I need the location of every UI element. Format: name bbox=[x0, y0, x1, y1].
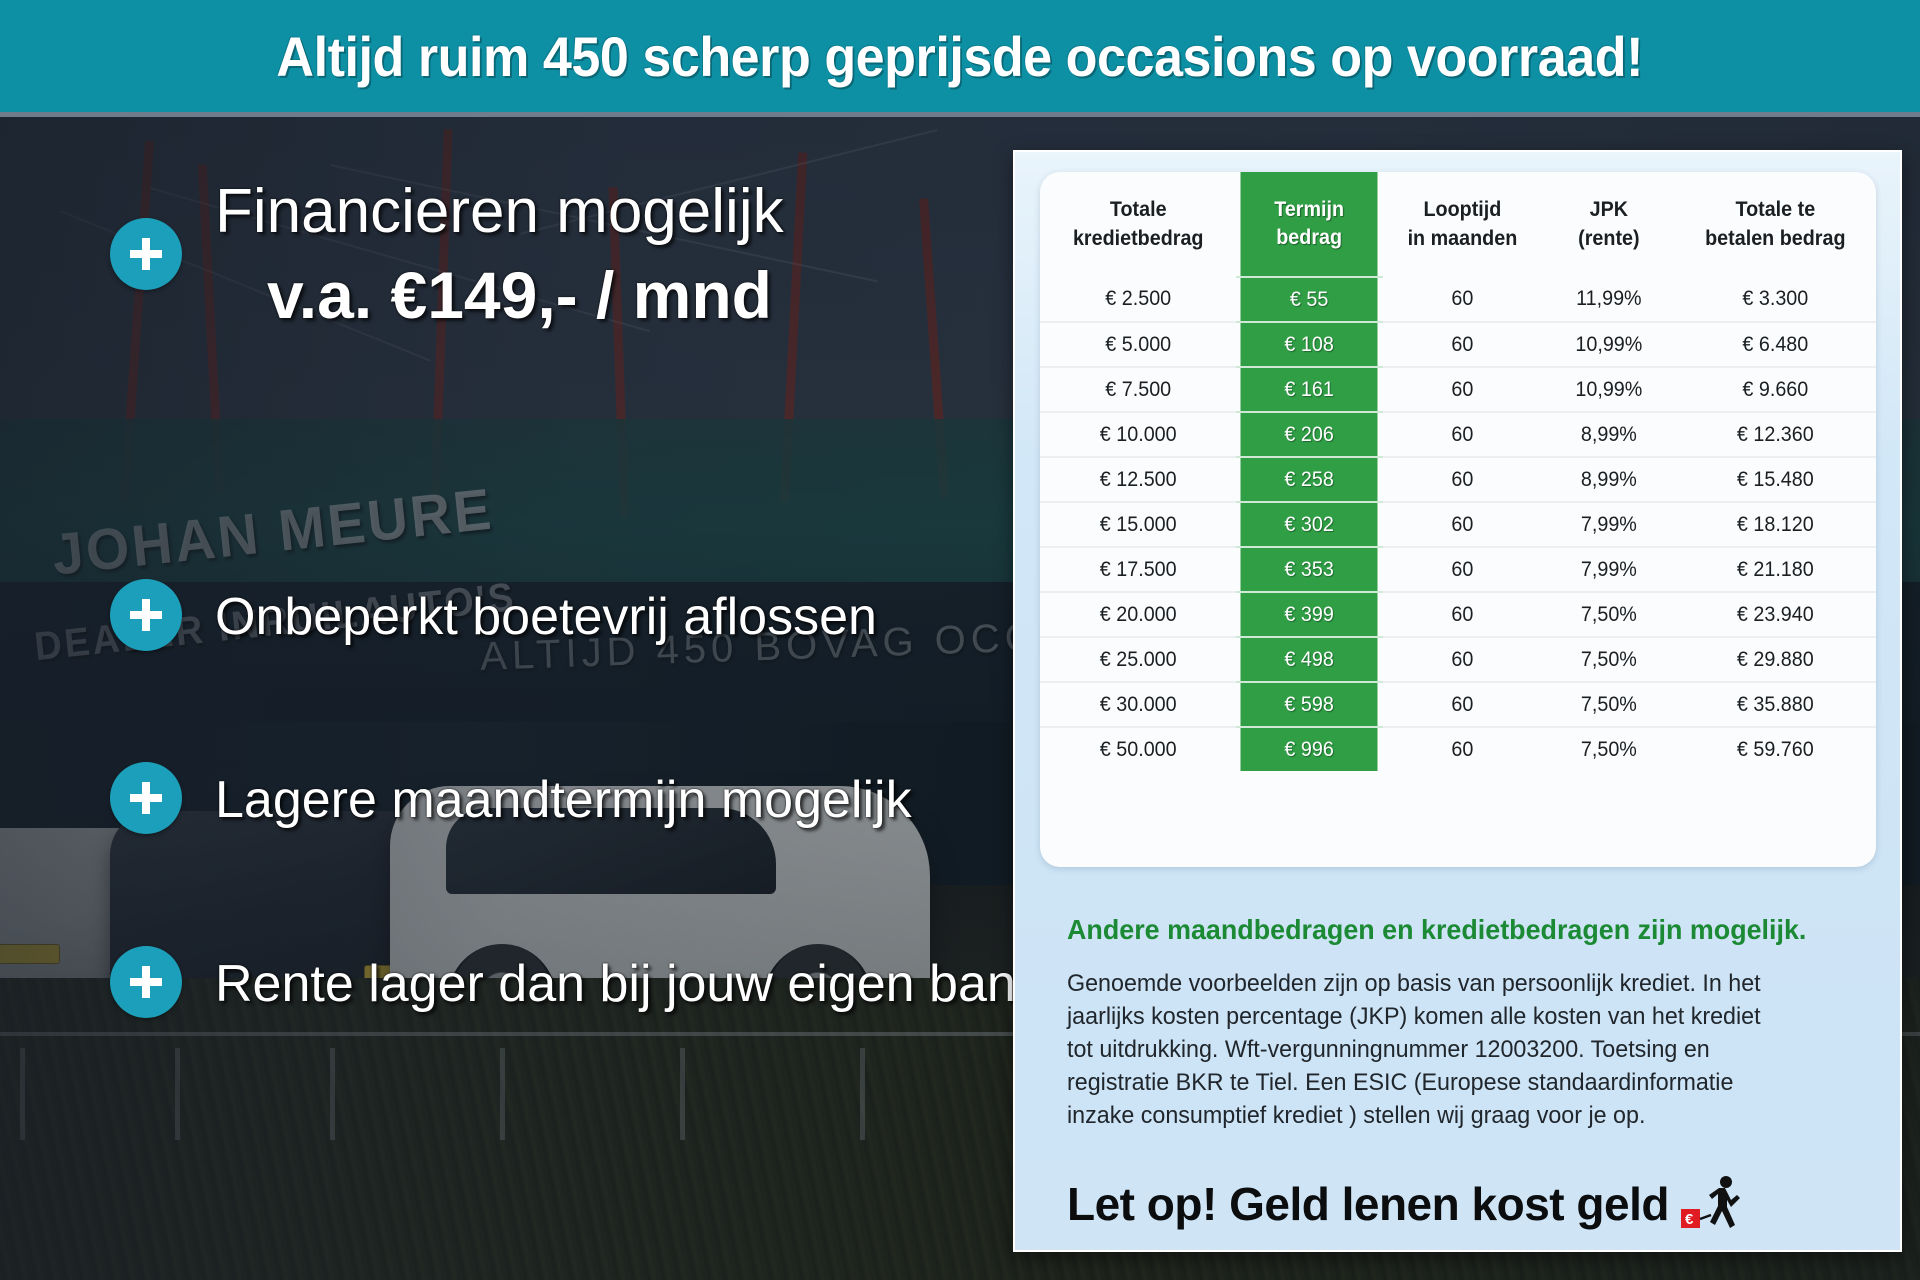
cell-total-credit: € 30.000 bbox=[1046, 682, 1231, 727]
cell-total-payable: € 18.120 bbox=[1681, 502, 1870, 547]
promo-headline: Financieren mogelijk v.a. €149,- / mnd bbox=[215, 179, 784, 331]
cell-duration: 60 bbox=[1388, 277, 1537, 322]
table-row: € 20.000€ 399607,50%€ 23.940 bbox=[1040, 592, 1876, 637]
cell-interest: 7,99% bbox=[1546, 547, 1672, 592]
cell-total-credit: € 15.000 bbox=[1046, 502, 1231, 547]
cell-duration: 60 bbox=[1388, 457, 1537, 502]
cell-monthly-amount: € 399 bbox=[1241, 592, 1379, 637]
cell-total-credit: € 12.500 bbox=[1046, 457, 1231, 502]
cell-duration: 60 bbox=[1388, 412, 1537, 457]
disclaimer-body: Genoemde voorbeelden zijn op basis van p… bbox=[1067, 967, 1765, 1133]
table-row: € 7.500€ 1616010,99%€ 9.660 bbox=[1040, 367, 1876, 412]
advertisement-banner: Altijd ruim 450 scherp geprijsde occasio… bbox=[0, 0, 1920, 1280]
top-banner: Altijd ruim 450 scherp geprijsde occasio… bbox=[0, 0, 1920, 112]
col-header-interest: JPK (rente) bbox=[1546, 172, 1672, 277]
plus-icon bbox=[110, 579, 182, 651]
cell-interest: 10,99% bbox=[1546, 322, 1672, 367]
cell-total-payable: € 35.880 bbox=[1681, 682, 1870, 727]
cell-duration: 60 bbox=[1388, 637, 1537, 682]
cell-total-credit: € 50.000 bbox=[1046, 727, 1231, 771]
cell-duration: 60 bbox=[1388, 592, 1537, 637]
table-row: € 15.000€ 302607,99%€ 18.120 bbox=[1040, 502, 1876, 547]
promo-headline-line1: Financieren mogelijk bbox=[215, 177, 784, 246]
cell-duration: 60 bbox=[1388, 727, 1537, 771]
cell-total-credit: € 17.500 bbox=[1046, 547, 1231, 592]
cell-total-payable: € 3.300 bbox=[1681, 277, 1870, 322]
cell-monthly-amount: € 108 bbox=[1241, 322, 1379, 367]
cell-interest: 7,50% bbox=[1546, 682, 1672, 727]
cell-interest: 11,99% bbox=[1546, 277, 1672, 322]
disclaimer-title: Andere maandbedragen en kredietbedragen … bbox=[1067, 914, 1825, 946]
svg-text:€: € bbox=[1685, 1211, 1694, 1228]
cell-total-credit: € 7.500 bbox=[1046, 367, 1231, 412]
cell-total-credit: € 5.000 bbox=[1046, 322, 1231, 367]
cell-interest: 7,50% bbox=[1546, 592, 1672, 637]
cell-duration: 60 bbox=[1388, 547, 1537, 592]
feature-item-3: Rente lager dan bij jouw eigen bank bbox=[215, 954, 1042, 1014]
cell-total-payable: € 29.880 bbox=[1681, 637, 1870, 682]
rates-table-header: Totale kredietbedrag Termijn bedrag Loop… bbox=[1040, 172, 1876, 277]
col-header-monthly-amount: Termijn bedrag bbox=[1241, 172, 1379, 277]
cell-duration: 60 bbox=[1388, 367, 1537, 412]
rates-table: Totale kredietbedrag Termijn bedrag Loop… bbox=[1040, 172, 1876, 771]
cell-interest: 7,99% bbox=[1546, 502, 1672, 547]
cell-total-credit: € 20.000 bbox=[1046, 592, 1231, 637]
cell-monthly-amount: € 206 bbox=[1241, 412, 1379, 457]
cell-interest: 8,99% bbox=[1546, 457, 1672, 502]
cell-monthly-amount: € 258 bbox=[1241, 457, 1379, 502]
cell-total-payable: € 15.480 bbox=[1681, 457, 1870, 502]
plus-icon bbox=[110, 946, 182, 1018]
cell-total-payable: € 23.940 bbox=[1681, 592, 1870, 637]
col-header-total-payable: Totale te betalen bedrag bbox=[1681, 172, 1870, 277]
table-row: € 25.000€ 498607,50%€ 29.880 bbox=[1040, 637, 1876, 682]
cell-duration: 60 bbox=[1388, 502, 1537, 547]
cell-monthly-amount: € 498 bbox=[1241, 637, 1379, 682]
warning-strip: Let op! Geld lenen kost geld € bbox=[1015, 1158, 1900, 1250]
banner-divider bbox=[0, 112, 1920, 117]
col-header-duration: Looptijd in maanden bbox=[1388, 172, 1537, 277]
banner-headline: Altijd ruim 450 scherp geprijsde occasio… bbox=[277, 24, 1644, 89]
cell-duration: 60 bbox=[1388, 682, 1537, 727]
cell-total-payable: € 59.760 bbox=[1681, 727, 1870, 771]
col-header-total-credit: Totale kredietbedrag bbox=[1046, 172, 1231, 277]
promo-headline-line2: v.a. €149,- / mnd bbox=[267, 261, 784, 331]
cell-interest: 10,99% bbox=[1546, 367, 1672, 412]
plus-icon bbox=[110, 218, 182, 290]
warning-text: Let op! Geld lenen kost geld bbox=[1067, 1177, 1669, 1231]
cell-monthly-amount: € 598 bbox=[1241, 682, 1379, 727]
table-row: € 30.000€ 598607,50%€ 35.880 bbox=[1040, 682, 1876, 727]
cell-interest: 8,99% bbox=[1546, 412, 1672, 457]
cell-monthly-amount: € 353 bbox=[1241, 547, 1379, 592]
rates-table-card: Totale kredietbedrag Termijn bedrag Loop… bbox=[1040, 172, 1876, 867]
cell-interest: 7,50% bbox=[1546, 727, 1672, 771]
table-row: € 2.500€ 556011,99%€ 3.300 bbox=[1040, 277, 1876, 322]
feature-item-2: Lagere maandtermijn mogelijk bbox=[215, 770, 912, 830]
table-header-row: Totale kredietbedrag Termijn bedrag Loop… bbox=[1040, 172, 1876, 277]
promo-column: Financieren mogelijk v.a. €149,- / mnd O… bbox=[0, 117, 1010, 1280]
feature-item-1: Onbeperkt boetevrij aflossen bbox=[215, 587, 877, 647]
cell-monthly-amount: € 161 bbox=[1241, 367, 1379, 412]
cell-interest: 7,50% bbox=[1546, 637, 1672, 682]
cell-duration: 60 bbox=[1388, 322, 1537, 367]
cell-total-credit: € 2.500 bbox=[1046, 277, 1231, 322]
cell-total-credit: € 25.000 bbox=[1046, 637, 1231, 682]
table-row: € 5.000€ 1086010,99%€ 6.480 bbox=[1040, 322, 1876, 367]
afm-walking-man-icon: € bbox=[1681, 1175, 1743, 1233]
cell-monthly-amount: € 55 bbox=[1241, 277, 1379, 322]
financing-panel: Totale kredietbedrag Termijn bedrag Loop… bbox=[1013, 150, 1902, 1252]
cell-total-payable: € 12.360 bbox=[1681, 412, 1870, 457]
rates-table-body: € 2.500€ 556011,99%€ 3.300€ 5.000€ 10860… bbox=[1040, 277, 1876, 771]
cell-total-payable: € 6.480 bbox=[1681, 322, 1870, 367]
plus-icon bbox=[110, 762, 182, 834]
cell-monthly-amount: € 302 bbox=[1241, 502, 1379, 547]
table-row: € 12.500€ 258608,99%€ 15.480 bbox=[1040, 457, 1876, 502]
table-row: € 17.500€ 353607,99%€ 21.180 bbox=[1040, 547, 1876, 592]
cell-monthly-amount: € 996 bbox=[1241, 727, 1379, 771]
table-row: € 10.000€ 206608,99%€ 12.360 bbox=[1040, 412, 1876, 457]
table-row: € 50.000€ 996607,50%€ 59.760 bbox=[1040, 727, 1876, 771]
cell-total-credit: € 10.000 bbox=[1046, 412, 1231, 457]
cell-total-payable: € 21.180 bbox=[1681, 547, 1870, 592]
cell-total-payable: € 9.660 bbox=[1681, 367, 1870, 412]
